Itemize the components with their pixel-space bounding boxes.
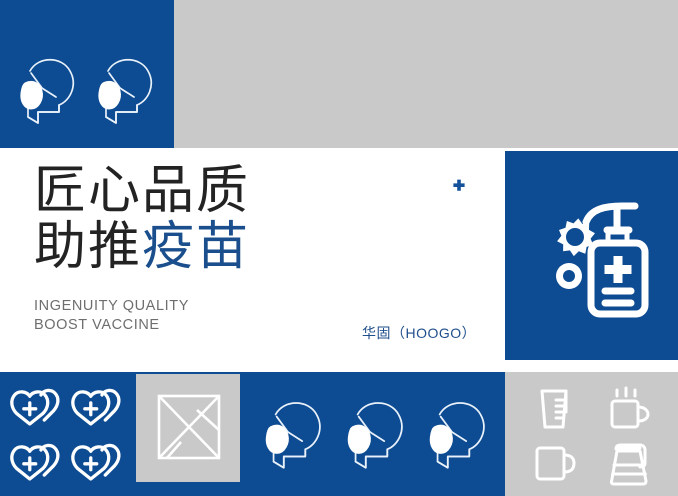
double-heart-plus-icon [10, 442, 68, 483]
steaming-mug-icon [605, 385, 653, 433]
bottom-mask-icon-row [252, 388, 498, 484]
brand-name: 华固（HOOGO） [362, 323, 476, 343]
subtitle-line-2: BOOST VACCINE [34, 316, 189, 335]
double-heart-plus-icon [10, 387, 68, 428]
masked-head-icon [12, 49, 82, 135]
top-mask-icon-row [12, 46, 162, 138]
top-right-gray-panel [174, 0, 678, 148]
coffee-carafe-icon [604, 441, 654, 487]
measuring-beaker-icon [533, 386, 577, 432]
headline-line-2: 助推疫苗 [34, 219, 374, 275]
virus-small-icon [556, 263, 582, 289]
bottom-heart-icon-grid [8, 380, 130, 490]
masked-head-icon [421, 392, 493, 480]
hand-sanitizer-bottle-icon [529, 196, 655, 322]
bottom-vessel-icon-grid [519, 382, 665, 490]
masked-head-icon [257, 392, 329, 480]
poster-canvas: 匠心品质 助推疫苗 INGENUITY QUALITY BOOST VACCIN… [0, 0, 678, 496]
double-heart-plus-icon [71, 442, 129, 483]
mug-icon [532, 442, 578, 486]
brand-block: 华固（HOOGO） [362, 323, 476, 343]
headline-block: 匠心品质 助推疫苗 [34, 163, 374, 275]
headline-line-2-dark: 助推 [34, 217, 142, 277]
masked-head-icon [90, 49, 160, 135]
broken-image-placeholder-icon [157, 394, 221, 460]
double-heart-plus-icon [71, 387, 129, 428]
masked-head-icon [339, 392, 411, 480]
subtitle-line-1: INGENUITY QUALITY [34, 297, 189, 316]
plus-icon [450, 178, 468, 196]
headline-line-1: 匠心品质 [34, 163, 374, 219]
headline-line-2-accent: 疫苗 [142, 217, 250, 277]
subtitle-block: INGENUITY QUALITY BOOST VACCINE [34, 297, 189, 335]
